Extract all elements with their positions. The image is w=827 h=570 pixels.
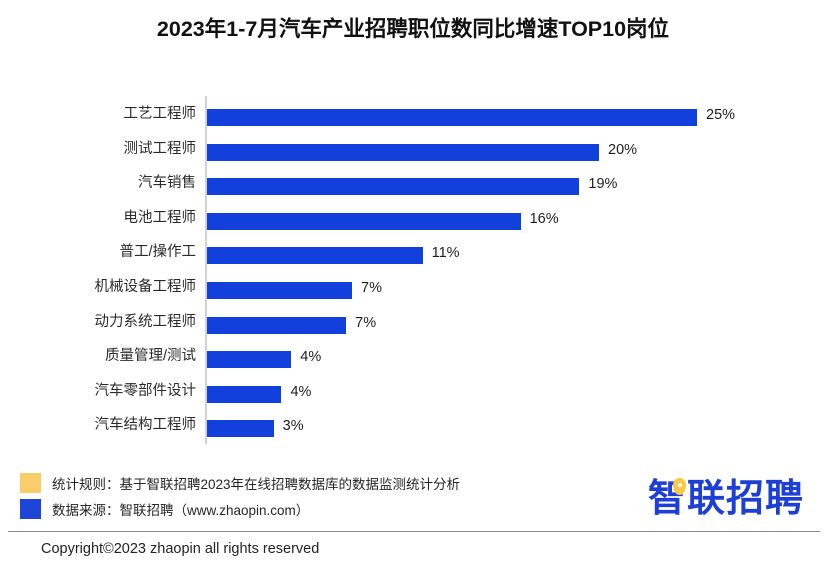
- bar-row: 普工/操作工11%: [0, 239, 827, 274]
- footnotes: 统计规则：基于智联招聘2023年在线招聘数据库的数据监测统计分析数据来源：智联招…: [20, 470, 620, 522]
- bar-value-label: 4%: [300, 348, 321, 367]
- bar-row: 测试工程师20%: [0, 136, 827, 171]
- bar-value-label: 20%: [608, 141, 637, 160]
- legend-swatch: [20, 499, 41, 519]
- bar-value-label: 3%: [283, 417, 304, 436]
- page-title: 2023年1-7月汽车产业招聘职位数同比增速TOP10岗位: [88, 14, 738, 45]
- bar-row: 动力系统工程师7%: [0, 309, 827, 344]
- category-label: 测试工程师: [0, 140, 196, 159]
- category-label: 普工/操作工: [0, 243, 196, 262]
- footnote-item: 数据来源：智联招聘（www.zhaopin.com）: [20, 496, 620, 522]
- category-label: 汽车销售: [0, 174, 196, 193]
- bar: [207, 247, 423, 264]
- footnote-text: 统计规则：基于智联招聘2023年在线招聘数据库的数据监测统计分析: [52, 473, 460, 493]
- category-label: 动力系统工程师: [0, 313, 196, 332]
- bar-row: 汽车结构工程师3%: [0, 412, 827, 447]
- bar-value-label: 7%: [361, 279, 382, 298]
- bar: [207, 282, 352, 299]
- bar-row: 汽车零部件设计4%: [0, 378, 827, 413]
- bar-row: 汽车销售19%: [0, 170, 827, 205]
- category-label: 质量管理/测试: [0, 347, 196, 366]
- bar-value-label: 7%: [355, 314, 376, 333]
- bar: [207, 109, 697, 126]
- bar-row: 工艺工程师25%: [0, 101, 827, 136]
- bar: [207, 386, 281, 403]
- chart-page: 2023年1-7月汽车产业招聘职位数同比增速TOP10岗位 工艺工程师25%测试…: [0, 0, 827, 570]
- bar: [207, 317, 346, 334]
- category-label: 工艺工程师: [0, 105, 196, 124]
- bar: [207, 420, 274, 437]
- copyright-text: Copyright©2023 zhaopin all rights reserv…: [41, 541, 319, 557]
- category-label: 汽车零部件设计: [0, 382, 196, 401]
- bar-value-label: 25%: [706, 106, 735, 125]
- bar-chart-plot-area: 工艺工程师25%测试工程师20%汽车销售19%电池工程师16%普工/操作工11%…: [0, 96, 827, 454]
- bar: [207, 178, 579, 195]
- legend-swatch: [20, 473, 41, 493]
- bar-value-label: 19%: [588, 175, 617, 194]
- category-label: 电池工程师: [0, 209, 196, 228]
- bar: [207, 213, 521, 230]
- logo-text: 智联招聘: [648, 476, 808, 522]
- bar-value-label: 16%: [530, 210, 559, 229]
- footer-divider: [8, 531, 820, 532]
- bar: [207, 144, 599, 161]
- category-label: 机械设备工程师: [0, 278, 196, 297]
- bar-row: 机械设备工程师7%: [0, 274, 827, 309]
- bar: [207, 351, 291, 368]
- bar-value-label: 11%: [432, 244, 460, 263]
- footnote-item: 统计规则：基于智联招聘2023年在线招聘数据库的数据监测统计分析: [20, 470, 620, 496]
- zhaopin-logo: 智联招聘: [648, 476, 808, 524]
- bar-row: 电池工程师16%: [0, 205, 827, 240]
- bar-value-label: 4%: [290, 383, 311, 402]
- bar-row: 质量管理/测试4%: [0, 343, 827, 378]
- footnote-text: 数据来源：智联招聘（www.zhaopin.com）: [52, 499, 309, 519]
- category-label: 汽车结构工程师: [0, 416, 196, 435]
